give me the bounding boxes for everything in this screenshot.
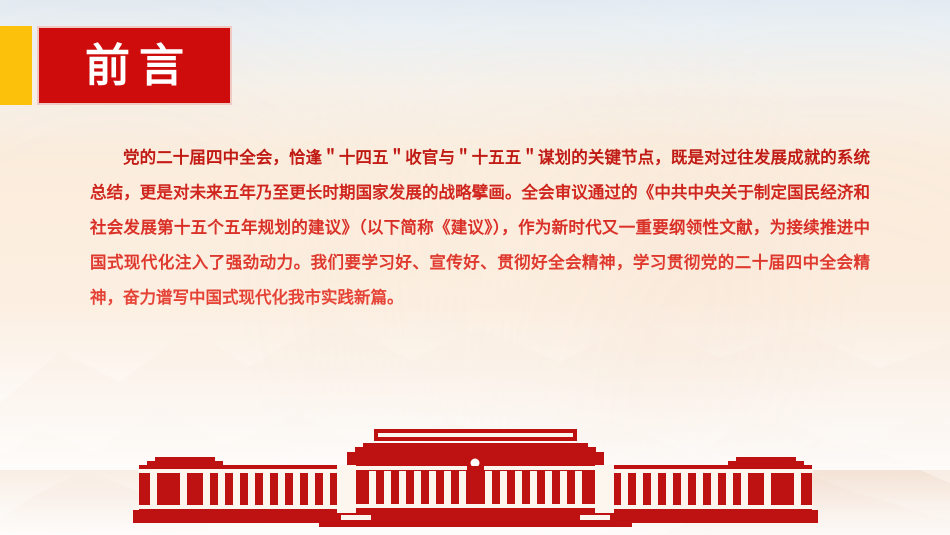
body-paragraph: 党的二十届四中全会，恰逢＂十四五＂收官与＂十五五＂谋划的关键节点，既是对过往发展… (90, 140, 870, 315)
slide-root: 前言 党的二十届四中全会，恰逢＂十四五＂收官与＂十五五＂谋划的关键节点，既是对过… (0, 0, 950, 535)
yellow-accent-block (0, 26, 32, 105)
page-title: 前言 (76, 43, 193, 88)
great-hall-of-the-people-silhouette (133, 419, 818, 531)
title-block: 前言 (37, 26, 232, 105)
